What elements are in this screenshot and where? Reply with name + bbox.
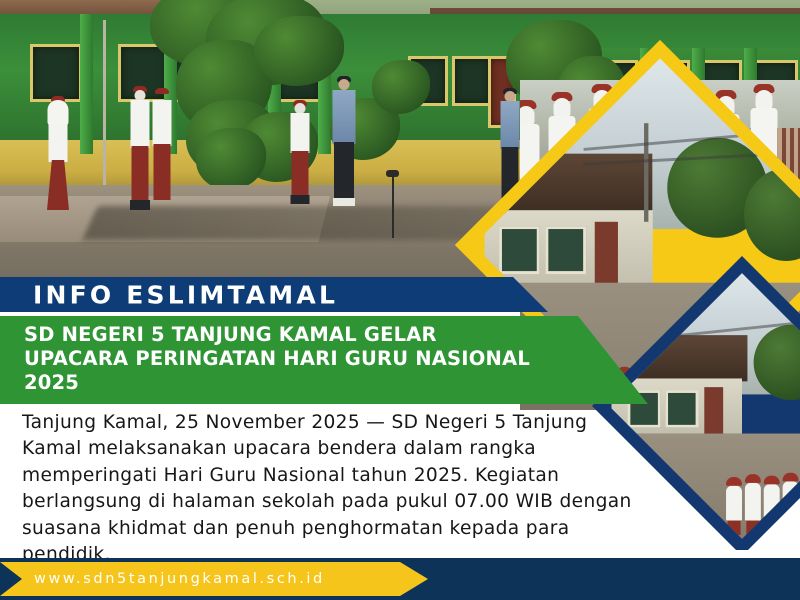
hero-window	[452, 56, 492, 106]
website-ribbon: www.sdn5tanjungkamal.sch.id	[0, 562, 428, 596]
photo-window	[499, 226, 539, 274]
poster-canvas: INFO ESLIMTAMAL SD NEGERI 5 TANJUNG KAMA…	[0, 0, 800, 600]
hero-flagpole	[103, 20, 106, 198]
website-url: www.sdn5tanjungkamal.sch.id	[34, 571, 325, 587]
article-paragraph: Tanjung Kamal, 25 November 2025 — SD Neg…	[22, 410, 642, 568]
hero-pillar	[80, 14, 93, 154]
footer-bar: www.sdn5tanjungkamal.sch.id	[0, 558, 800, 600]
kicker-text: INFO ESLIMTAMAL	[33, 280, 338, 309]
kicker-band: INFO ESLIMTAMAL	[0, 277, 560, 312]
hero-mic-stand	[392, 176, 394, 238]
photo-pole	[645, 122, 649, 222]
photo-window	[545, 226, 585, 274]
photo-leader	[666, 485, 682, 526]
headline-text: SD NEGERI 5 TANJUNG KAMAL GELAR UPACARA …	[24, 323, 544, 394]
photo-door	[704, 387, 723, 436]
photo-window	[666, 390, 699, 428]
photo-door	[595, 222, 618, 287]
photo-student-row	[726, 481, 800, 520]
footer-white-strip	[410, 550, 800, 558]
headline-band: SD NEGERI 5 TANJUNG KAMAL GELAR UPACARA …	[0, 316, 660, 404]
hero-window	[30, 44, 82, 102]
